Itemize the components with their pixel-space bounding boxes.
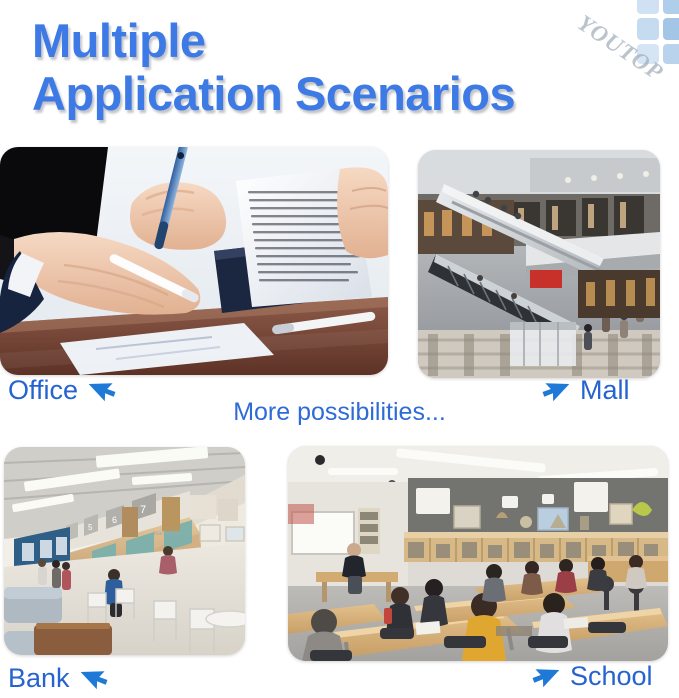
caption-school: School: [528, 658, 653, 694]
mall-scene-illustration: [418, 150, 660, 378]
bank-scene-illustration: 7 6 5: [4, 447, 245, 655]
svg-text:6: 6: [112, 515, 117, 525]
svg-text:5: 5: [88, 523, 93, 532]
cursor-arrow-icon: [76, 660, 112, 696]
scenario-image-office: [0, 147, 388, 375]
scenario-image-bank: 7 6 5: [4, 447, 245, 655]
scenario-image-school: [288, 446, 668, 661]
caption-bank-label: Bank: [8, 663, 70, 694]
page-title-line-1: Multiple: [32, 14, 632, 67]
school-scene-illustration: [288, 446, 668, 661]
office-scene-illustration: [0, 147, 388, 375]
scenario-image-mall: [418, 150, 660, 378]
page-title: Multiple Application Scenarios: [32, 14, 632, 120]
svg-text:Bank Hall: Bank Hall: [154, 531, 180, 537]
cursor-arrow-icon: [528, 658, 564, 694]
more-possibilities-text: More possibilities...: [0, 398, 679, 427]
caption-bank: Bank: [8, 660, 112, 696]
caption-school-label: School: [570, 661, 653, 692]
svg-text:7: 7: [140, 504, 146, 516]
page-title-line-2: Application Scenarios: [32, 67, 632, 120]
